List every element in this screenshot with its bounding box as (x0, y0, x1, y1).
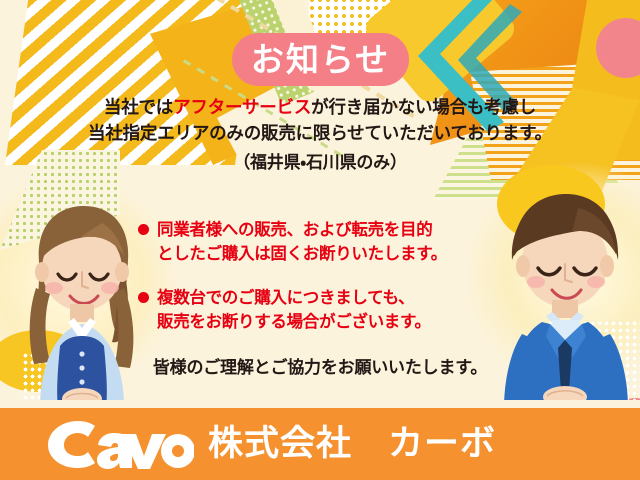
footer-brand-bar: 株式会社 カーボ (0, 408, 640, 480)
closing-text: 皆様のご理解とご協力をお願いいたします。 (153, 358, 487, 378)
lead-line-1-post: が行き届かない場合も考慮し (311, 98, 536, 118)
lead-line-3-region: （福井県・石川県のみ） (0, 147, 640, 179)
bullet-dot-icon (138, 292, 149, 303)
company-name: 株式会社 カーボ (208, 427, 496, 462)
notice-line: 同業者様への販売、および転売を目的 (157, 220, 432, 239)
notice-line: 販売をお断りする場合がございます。 (157, 312, 431, 331)
lead-line-1-pre: 当社では (104, 98, 173, 118)
lead-line-2: 当社指定エリアのみの販売に限らせていただいております。 (0, 122, 640, 148)
list-item: 同業者様への販売、および転売を目的 としたご購入は固くお断りいたします。 (138, 218, 518, 267)
lead-line-1: 当社ではアフターサービスが行き届かない場合も考慮し (0, 96, 640, 122)
announcement-banner: お知らせ 当社ではアフターサービスが行き届かない場合も考慮し 当社指定エリアのみ… (0, 0, 640, 480)
list-item: 複数台でのご購入につきましても、 販売をお断りする場合がございます。 (138, 286, 518, 335)
notice-text-block: 同業者様への販売、および転売を目的 としたご購入は固くお断りいたします。 (157, 218, 518, 267)
page-title: お知らせ (251, 43, 390, 76)
notice-line: 複数台でのご購入につきましても、 (157, 288, 414, 307)
notice-text-block: 複数台でのご購入につきましても、 販売をお断りする場合がございます。 (157, 286, 518, 335)
announcement-title-badge: お知らせ (232, 33, 409, 86)
footer-divider-strip (0, 400, 640, 408)
notice-list: 同業者様への販売、および転売を目的 としたご購入は固くお断りいたします。 複数台… (138, 218, 518, 354)
notice-line: としたご購入は固くお断りいたします。 (157, 244, 447, 263)
cavo-logo-icon (44, 418, 194, 470)
closing-message: 皆様のご理解とご協力をお願いいたします。 (0, 353, 640, 378)
bullet-dot-icon (138, 224, 149, 235)
lead-line-1-highlight: アフターサービス (173, 98, 311, 118)
lead-paragraph: 当社ではアフターサービスが行き届かない場合も考慮し 当社指定エリアのみの販売に限… (0, 96, 640, 179)
